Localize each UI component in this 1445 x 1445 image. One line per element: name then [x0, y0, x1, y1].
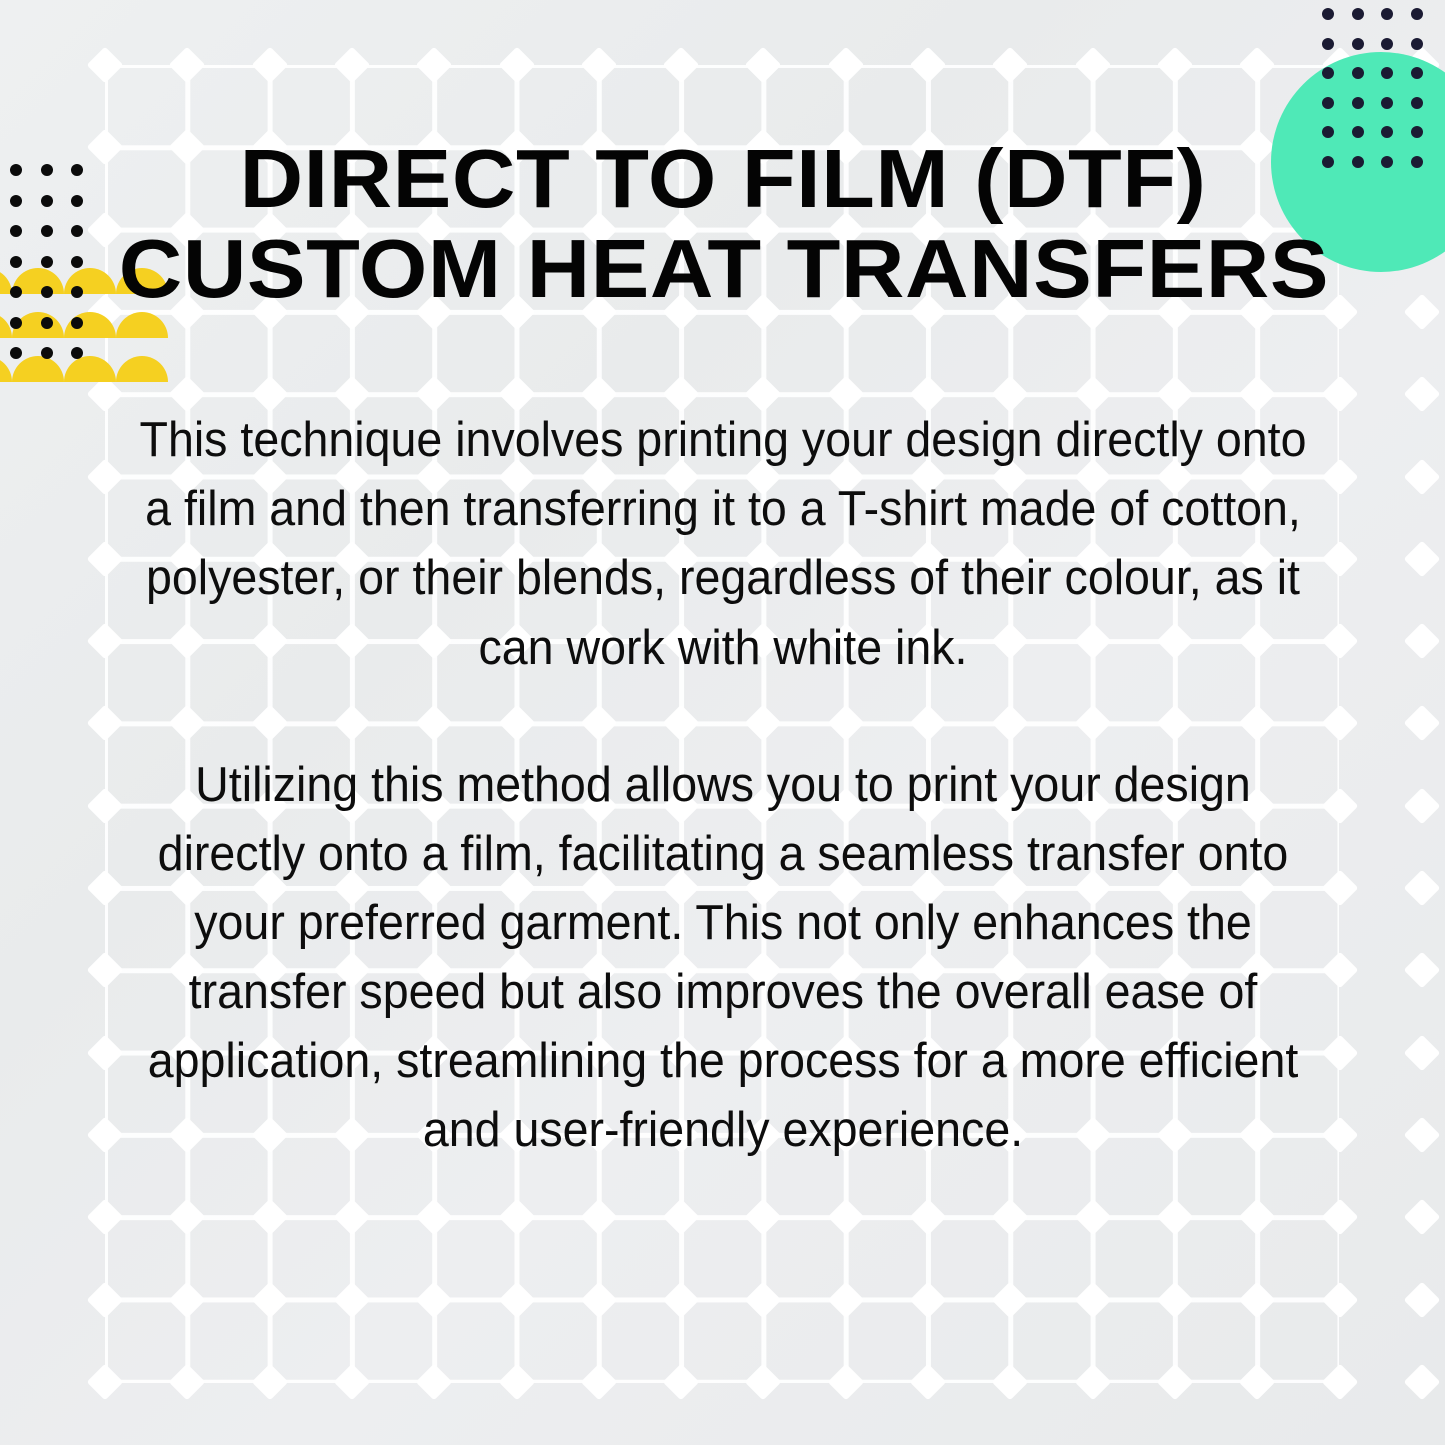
paragraph-1: This technique involves printing your de… — [124, 406, 1321, 682]
title-line-1: DIRECT TO FILM (DTF) — [118, 138, 1326, 220]
title-line-2: CUSTOM HEAT TRANSFERS — [118, 228, 1326, 310]
poster-canvas: DIRECT TO FILM (DTF) CUSTOM HEAT TRANSFE… — [0, 0, 1445, 1445]
poster-content: DIRECT TO FILM (DTF) CUSTOM HEAT TRANSFE… — [0, 0, 1445, 1445]
body-copy: This technique involves printing your de… — [93, 406, 1353, 1165]
page-title: DIRECT TO FILM (DTF) CUSTOM HEAT TRANSFE… — [153, 138, 1293, 310]
paragraph-2: Utilizing this method allows you to prin… — [124, 751, 1321, 1165]
